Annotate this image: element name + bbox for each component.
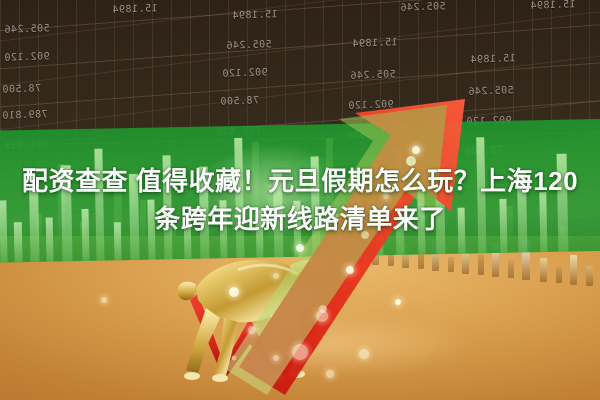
ticker-value-label: 15.1894 [232,9,278,22]
sparkle-dot [326,370,334,378]
page-title: 配资查查 值得收藏！元旦假期怎么玩？上海120 条跨年迎新线路清单来了 [0,162,600,238]
floor-bar [540,258,547,282]
ticker-value-label: 789.810 [2,109,48,122]
golden-bull-statue [150,248,340,388]
sparkle-dot [359,349,369,359]
floor-bar [508,260,514,278]
sparkle-dot [292,344,308,360]
sparkle-dot [395,299,401,305]
ticker-value-label: 505.246 [350,69,396,82]
floor-bar [570,255,577,285]
floor-bar [478,255,484,275]
floor-bar [586,266,593,286]
sparkle-dot [229,287,239,297]
ticker-value-label: 505.246 [468,85,514,98]
headline-line-2: 条跨年迎新线路清单来了 [12,200,588,238]
ticker-value-label: 902.120 [222,67,268,80]
headline-line-1: 配资查查 值得收藏！元旦假期怎么玩？上海120 [12,162,588,200]
sparkle-dot [273,355,279,361]
floor-bar [448,257,454,272]
ticker-value-label: 902.120 [4,51,50,64]
sparkle-dot [101,297,107,303]
ticker-value-label: 78.500 [2,83,41,95]
sparkle-dot [273,273,279,279]
ticker-value-label: 505.246 [400,1,446,14]
ticker-value-label: 902.120 [348,99,394,112]
ticker-value-label: 78.500 [220,95,259,107]
sparkle-dot [346,266,354,274]
sparkle-dot [248,326,256,334]
ticker-value-label: 15.1894 [530,0,576,12]
article-cover-image: 15.1894505.246902.12078.500789.810301.01… [0,0,600,400]
ticker-value-label: 15.1894 [112,3,158,16]
sparkle-dot [316,310,328,322]
ticker-value-label: 505.246 [4,23,50,36]
sparkle-dot [296,244,304,252]
ticker-value-label: 15.1894 [470,53,516,66]
ticker-value-label: 15.1894 [352,37,398,50]
floor-bar [556,267,562,283]
sparkle-dot [412,146,420,154]
ticker-value-label: 505.246 [226,39,272,52]
